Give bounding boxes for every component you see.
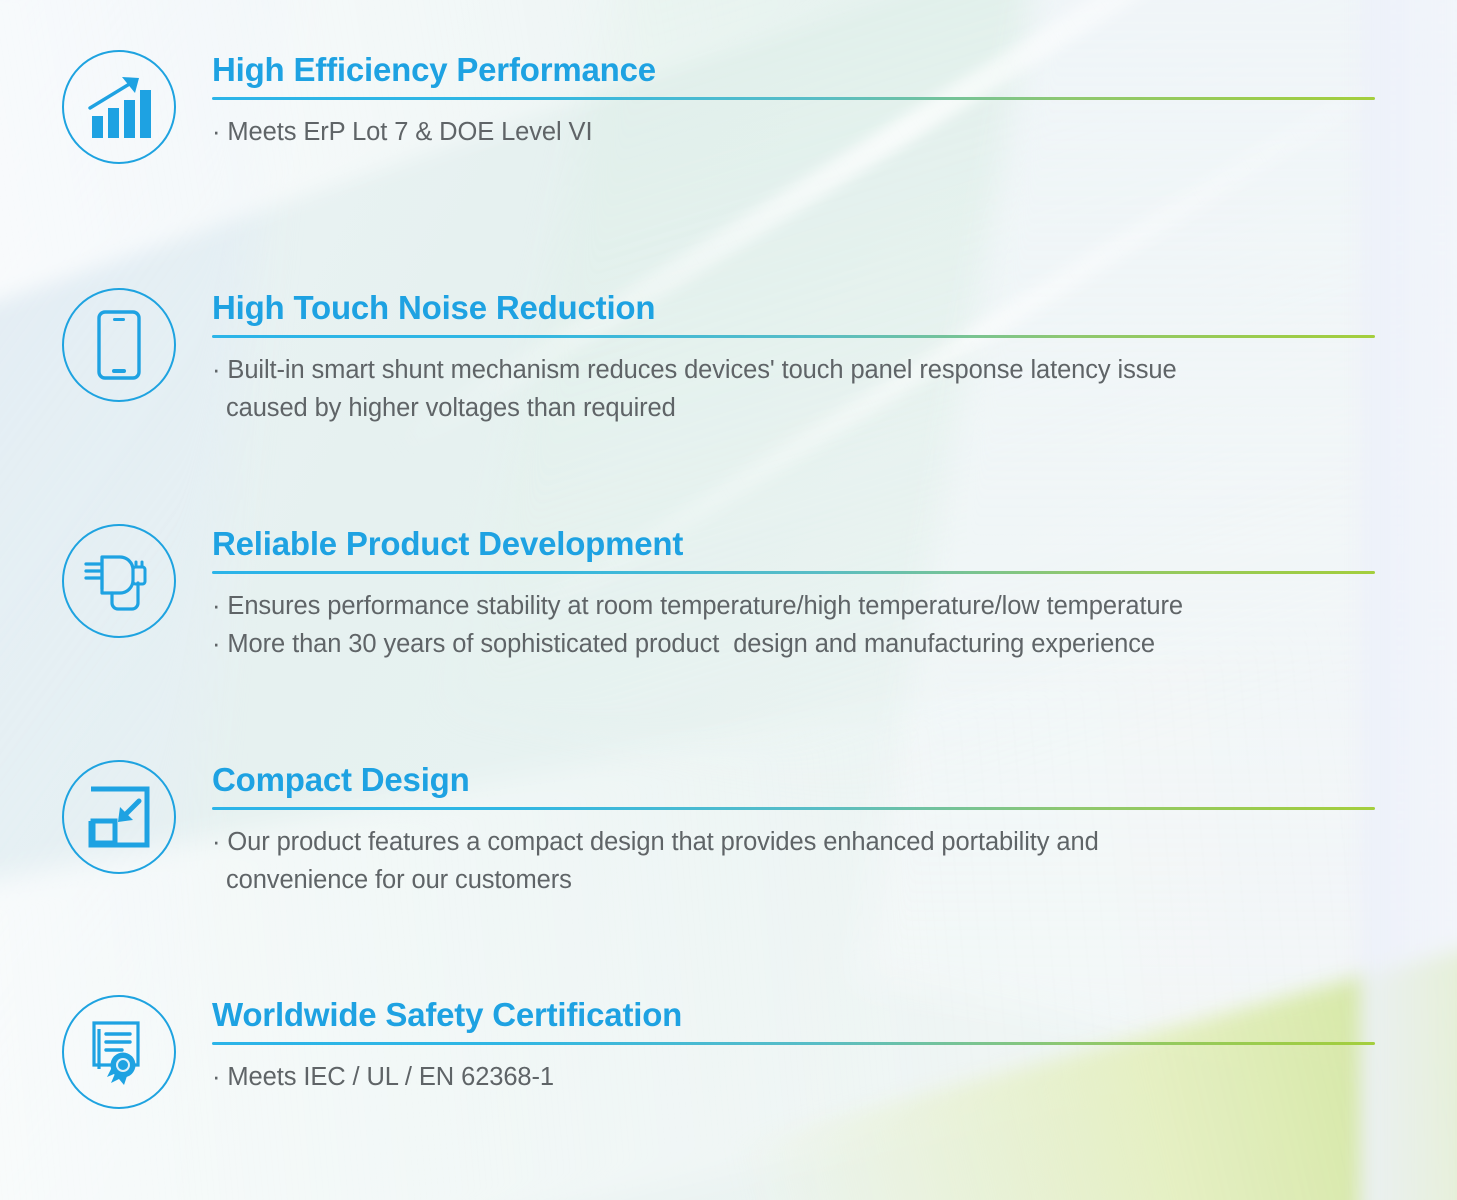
feature-icon-container — [62, 760, 176, 874]
feature-text-block: High Touch Noise Reduction · Built-in sm… — [212, 288, 1382, 427]
bullet-marker: · — [212, 592, 220, 620]
feature-divider-rule — [212, 335, 1375, 338]
feature-description-line: · Meets ErP Lot 7 & DOE Level VI — [212, 113, 1382, 151]
bullet-marker: · — [212, 356, 220, 384]
certificate-award-icon — [62, 995, 176, 1109]
feature-description-list: · Built-in smart shunt mechanism reduces… — [212, 351, 1382, 427]
feature-icon-container — [62, 50, 176, 164]
feature-description-line: · Our product features a compact design … — [212, 823, 1382, 899]
bullet-marker: · — [212, 118, 220, 146]
feature-description-text: Meets ErP Lot 7 & DOE Level VI — [227, 118, 592, 146]
feature-description-line: · Ensures performance stability at room … — [212, 587, 1382, 625]
feature-description-line: · Built-in smart shunt mechanism reduces… — [212, 351, 1382, 427]
feature-title: Worldwide Safety Certification — [212, 995, 1382, 1035]
feature-icon-container — [62, 288, 176, 402]
feature-text-block: Worldwide Safety Certification · Meets I… — [212, 995, 1382, 1096]
growth-bar-chart-icon — [62, 50, 176, 164]
feature-description-text: Meets IEC / UL / EN 62368-1 — [227, 1063, 554, 1091]
bullet-marker: · — [212, 1063, 220, 1091]
feature-title: High Touch Noise Reduction — [212, 288, 1382, 328]
feature-description-text: Our product features a compact design th… — [212, 828, 1099, 894]
feature-description-text: Built-in smart shunt mechanism reduces d… — [212, 356, 1177, 422]
power-adapter-icon — [62, 524, 176, 638]
feature-divider-rule — [212, 97, 1375, 100]
feature-description-text: Ensures performance stability at room te… — [227, 592, 1183, 620]
feature-description-list: · Meets IEC / UL / EN 62368-1 — [212, 1058, 1382, 1096]
smartphone-icon — [62, 288, 176, 402]
feature-description-line: · More than 30 years of sophisticated pr… — [212, 625, 1382, 663]
feature-text-block: High Efficiency Performance · Meets ErP … — [212, 50, 1382, 151]
bullet-marker: · — [212, 828, 220, 856]
feature-divider-rule — [212, 571, 1375, 574]
feature-title: Compact Design — [212, 760, 1382, 800]
feature-text-block: Compact Design · Our product features a … — [212, 760, 1382, 899]
compact-resize-icon — [62, 760, 176, 874]
feature-icon-container — [62, 524, 176, 638]
feature-highlights-page: High Efficiency Performance · Meets ErP … — [0, 0, 1457, 1200]
bullet-marker: · — [212, 630, 220, 658]
feature-title: High Efficiency Performance — [212, 50, 1382, 90]
feature-description-list: · Ensures performance stability at room … — [212, 587, 1382, 663]
feature-text-block: Reliable Product Development · Ensures p… — [212, 524, 1382, 663]
background-swoosh-bottom-white — [0, 621, 1407, 1200]
feature-description-list: · Our product features a compact design … — [212, 823, 1382, 899]
feature-description-line: · Meets IEC / UL / EN 62368-1 — [212, 1058, 1382, 1096]
feature-icon-container — [62, 995, 176, 1109]
feature-divider-rule — [212, 1042, 1375, 1045]
feature-divider-rule — [212, 807, 1375, 810]
feature-title: Reliable Product Development — [212, 524, 1382, 564]
feature-description-text: More than 30 years of sophisticated prod… — [227, 630, 1155, 658]
feature-description-list: · Meets ErP Lot 7 & DOE Level VI — [212, 113, 1382, 151]
